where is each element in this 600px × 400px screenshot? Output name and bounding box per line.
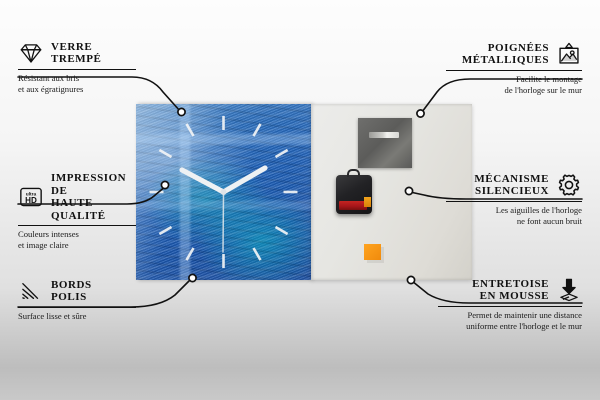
callout-title: POIGNÉES MÉTALLIQUES bbox=[462, 42, 549, 67]
callout-rule bbox=[18, 307, 136, 308]
callout-head: POIGNÉES MÉTALLIQUES bbox=[446, 41, 582, 67]
callout-poignees-metalliques[interactable]: POIGNÉES MÉTALLIQUES Facilite le montage… bbox=[446, 41, 582, 95]
callout-head: VERRE TREMPÉ bbox=[18, 40, 136, 66]
clock-front-panel bbox=[136, 104, 311, 280]
quartz-movement-box bbox=[336, 175, 372, 214]
callout-subtitle: Facilite le montage de l'horloge sur le … bbox=[446, 74, 582, 95]
callout-rule bbox=[438, 306, 582, 307]
foam-spacer-arrow-icon bbox=[556, 277, 582, 303]
metal-hanger-plate bbox=[358, 118, 412, 168]
callout-subtitle: Couleurs intenses et image claire bbox=[18, 229, 136, 250]
callout-title: BORDS POLIS bbox=[51, 279, 92, 304]
callout-head: MÉCANISME SILENCIEUX bbox=[446, 172, 582, 198]
callout-subtitle: Permet de maintenir une distance uniform… bbox=[438, 310, 582, 331]
callout-head: ENTRETOISE EN MOUSSE bbox=[438, 277, 582, 303]
callout-rule bbox=[446, 201, 582, 202]
callout-rule bbox=[18, 69, 136, 70]
clock-face bbox=[136, 104, 311, 280]
callout-verre-trempe[interactable]: VERRE TREMPÉ Résistant aux bris et aux é… bbox=[18, 40, 136, 94]
callout-subtitle: Les aiguilles de l'horloge ne font aucun… bbox=[446, 205, 582, 226]
polished-edges-icon bbox=[18, 278, 44, 304]
callout-impression-haute-qualite[interactable]: ultra HD IMPRESSION DE HAUTE QUALITÉ Cou… bbox=[18, 172, 136, 250]
callout-head: BORDS POLIS bbox=[18, 278, 136, 304]
diamond-icon bbox=[18, 40, 44, 66]
callout-rule bbox=[18, 225, 136, 226]
hanging-frame-icon bbox=[556, 41, 582, 67]
svg-text:HD: HD bbox=[25, 196, 37, 205]
callout-subtitle: Surface lisse et sûre bbox=[18, 311, 136, 321]
battery bbox=[339, 201, 367, 210]
foam-spacer bbox=[364, 244, 381, 260]
callout-title: IMPRESSION DE HAUTE QUALITÉ bbox=[51, 172, 136, 222]
callout-entretoise-en-mousse[interactable]: ENTRETOISE EN MOUSSE Permet de maintenir… bbox=[438, 277, 582, 331]
hanger-slot bbox=[369, 132, 399, 138]
callout-title: VERRE TREMPÉ bbox=[51, 41, 101, 66]
infographic-canvas: VERRE TREMPÉ Résistant aux bris et aux é… bbox=[0, 0, 600, 400]
product-image bbox=[136, 104, 472, 280]
callout-head: ultra HD IMPRESSION DE HAUTE QUALITÉ bbox=[18, 172, 136, 222]
battery-terminal bbox=[364, 197, 371, 207]
movement-hook bbox=[347, 169, 360, 177]
callout-subtitle: Résistant aux bris et aux égratignures bbox=[18, 73, 136, 94]
ultra-hd-icon: ultra HD bbox=[18, 184, 44, 210]
callout-title: MÉCANISME SILENCIEUX bbox=[474, 173, 549, 198]
callout-mecanisme-silencieux[interactable]: MÉCANISME SILENCIEUX Les aiguilles de l'… bbox=[446, 172, 582, 226]
callout-title: ENTRETOISE EN MOUSSE bbox=[472, 278, 549, 303]
gear-icon bbox=[556, 172, 582, 198]
callout-bords-polis[interactable]: BORDS POLIS Surface lisse et sûre bbox=[18, 278, 136, 322]
callout-rule bbox=[446, 70, 582, 71]
